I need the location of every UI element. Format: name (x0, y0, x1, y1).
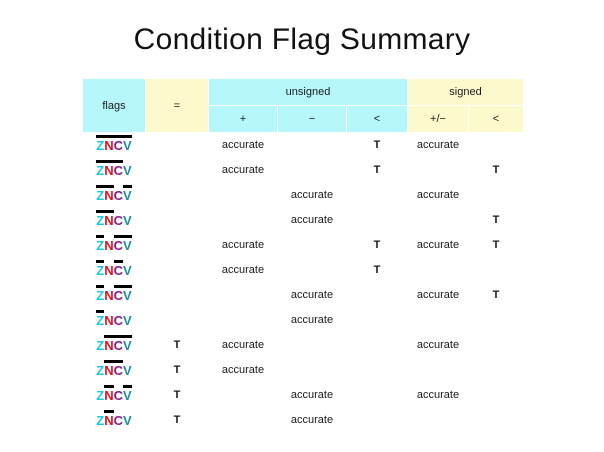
condition-flag-summary-table: flags = unsigned signed + − < +/− < ZNCV… (82, 78, 524, 433)
zncv-flag-glyph: ZNCV (96, 314, 131, 328)
cell-unsigned-plus (209, 283, 277, 307)
cell-signed-plusminus: accurate (408, 233, 468, 257)
flag-letter-z: Z (96, 239, 104, 253)
cell-unsigned-plus: accurate (209, 258, 277, 282)
flag-overline-bar (123, 335, 132, 338)
table-row: ZNCVaccurateaccurateT (83, 283, 523, 307)
cell-signed-plusminus (408, 308, 468, 332)
cell-unsigned-plus (209, 208, 277, 232)
cell-unsigned-minus: accurate (278, 408, 346, 432)
flag-letter-z: Z (96, 414, 104, 428)
flag-overline-bar (96, 185, 104, 188)
cell-equals (146, 308, 208, 332)
flag-overline-bar (96, 160, 104, 163)
cell-signed-plusminus (408, 408, 468, 432)
flag-letter-v: V (123, 189, 132, 203)
flag-combination-cell: ZNCV (83, 383, 145, 407)
cell-equals: T (146, 408, 208, 432)
flag-overline-bar (104, 185, 113, 188)
flag-overline-bar (104, 410, 113, 413)
cell-signed-less-than (469, 183, 523, 207)
flag-letter-v: V (123, 289, 132, 303)
flag-combination-cell: ZNCV (83, 358, 145, 382)
cell-unsigned-minus (278, 133, 346, 157)
zncv-flag-glyph: ZNCV (96, 339, 131, 353)
flag-letter-v: V (123, 139, 132, 153)
cell-signed-less-than: T (469, 158, 523, 182)
flag-letter-n: N (104, 214, 113, 228)
flag-summary-table-container: flags = unsigned signed + − < +/− < ZNCV… (0, 78, 604, 433)
flag-overline-bar (104, 135, 113, 138)
flag-letter-n: N (104, 189, 113, 203)
cell-signed-less-than (469, 408, 523, 432)
cell-equals (146, 208, 208, 232)
flag-overline-bar (114, 360, 123, 363)
flag-overline-bar (114, 160, 123, 163)
cell-unsigned-minus (278, 158, 346, 182)
cell-unsigned-less-than: T (347, 158, 407, 182)
cell-signed-less-than: T (469, 208, 523, 232)
flag-overline-bar (104, 335, 113, 338)
flag-letter-z: Z (96, 339, 104, 353)
cell-equals: T (146, 383, 208, 407)
flag-overline-bar (104, 360, 113, 363)
flag-letter-c: C (114, 289, 123, 303)
cell-unsigned-plus (209, 308, 277, 332)
cell-signed-plusminus: accurate (408, 383, 468, 407)
page-title: Condition Flag Summary (0, 0, 604, 60)
header-row-groups: flags = unsigned signed (83, 79, 523, 105)
flag-combination-cell: ZNCV (83, 233, 145, 257)
flag-letter-v: V (123, 389, 132, 403)
table-row: ZNCVaccurateT (83, 258, 523, 282)
table-row: ZNCVaccurateTaccurate (83, 133, 523, 157)
header-unsigned-less-than: < (347, 106, 407, 132)
cell-unsigned-plus (209, 383, 277, 407)
flag-letter-n: N (104, 139, 113, 153)
header-group-unsigned: unsigned (209, 79, 407, 105)
flag-combination-cell: ZNCV (83, 158, 145, 182)
flag-overline-bar (123, 235, 132, 238)
flag-overline-bar (114, 135, 123, 138)
cell-unsigned-less-than (347, 308, 407, 332)
cell-signed-plusminus (408, 208, 468, 232)
cell-unsigned-less-than (347, 183, 407, 207)
cell-unsigned-plus: accurate (209, 158, 277, 182)
cell-unsigned-minus: accurate (278, 308, 346, 332)
flag-overline-bar (114, 335, 123, 338)
cell-unsigned-minus (278, 233, 346, 257)
flag-overline-bar (96, 210, 104, 213)
flag-letter-c: C (114, 314, 123, 328)
flag-overline-bar (123, 385, 132, 388)
flag-combination-cell: ZNCV (83, 183, 145, 207)
flag-letter-n: N (104, 164, 113, 178)
table-row: ZNCVTaccurate (83, 408, 523, 432)
zncv-flag-glyph: ZNCV (96, 239, 131, 253)
cell-unsigned-plus: accurate (209, 358, 277, 382)
table-body: ZNCVaccurateTaccurateZNCVaccurateTTZNCVa… (83, 133, 523, 432)
table-row: ZNCVaccurate (83, 308, 523, 332)
header-group-signed: signed (408, 79, 523, 105)
cell-unsigned-less-than: T (347, 133, 407, 157)
cell-equals (146, 258, 208, 282)
cell-signed-less-than: T (469, 233, 523, 257)
flag-letter-n: N (104, 289, 113, 303)
flag-letter-n: N (104, 339, 113, 353)
cell-unsigned-less-than (347, 358, 407, 382)
flag-overline-bar (123, 185, 132, 188)
flag-letter-n: N (104, 314, 113, 328)
flag-letter-c: C (114, 164, 123, 178)
cell-signed-less-than (469, 358, 523, 382)
cell-unsigned-plus: accurate (209, 133, 277, 157)
cell-equals (146, 183, 208, 207)
cell-equals (146, 158, 208, 182)
flag-overline-bar (96, 310, 104, 313)
flag-overline-bar (114, 285, 123, 288)
zncv-flag-glyph: ZNCV (96, 389, 131, 403)
cell-unsigned-plus (209, 408, 277, 432)
cell-unsigned-less-than (347, 408, 407, 432)
table-row: ZNCVaccurateaccurate (83, 183, 523, 207)
header-equals: = (146, 79, 208, 132)
cell-signed-plusminus (408, 258, 468, 282)
table-row: ZNCVTaccurateaccurate (83, 333, 523, 357)
flag-letter-c: C (114, 139, 123, 153)
flag-overline-bar (104, 210, 113, 213)
cell-signed-less-than: T (469, 283, 523, 307)
flag-letter-c: C (114, 214, 123, 228)
flag-letter-v: V (123, 214, 132, 228)
cell-unsigned-less-than (347, 208, 407, 232)
header-flags: flags (83, 79, 145, 132)
cell-signed-plusminus: accurate (408, 133, 468, 157)
table-row: ZNCVTaccurate (83, 358, 523, 382)
zncv-flag-glyph: ZNCV (96, 364, 131, 378)
cell-unsigned-minus: accurate (278, 208, 346, 232)
flag-letter-n: N (104, 414, 113, 428)
flag-letter-v: V (123, 314, 132, 328)
flag-overline-bar (123, 135, 132, 138)
flag-letter-z: Z (96, 189, 104, 203)
flag-letter-c: C (114, 364, 123, 378)
flag-letter-z: Z (96, 289, 104, 303)
cell-equals: T (146, 358, 208, 382)
cell-signed-less-than (469, 383, 523, 407)
cell-equals (146, 283, 208, 307)
flag-letter-v: V (123, 264, 132, 278)
table-row: ZNCVaccurateTT (83, 158, 523, 182)
cell-unsigned-minus (278, 333, 346, 357)
flag-letter-z: Z (96, 314, 104, 328)
flag-letter-v: V (123, 414, 132, 428)
flag-overline-bar (123, 285, 132, 288)
cell-unsigned-plus (209, 183, 277, 207)
flag-combination-cell: ZNCV (83, 258, 145, 282)
flag-letter-n: N (104, 264, 113, 278)
flag-combination-cell: ZNCV (83, 408, 145, 432)
cell-signed-plusminus (408, 358, 468, 382)
cell-unsigned-less-than (347, 333, 407, 357)
flag-overline-bar (104, 160, 113, 163)
flag-letter-n: N (104, 239, 113, 253)
flag-letter-n: N (104, 389, 113, 403)
flag-letter-z: Z (96, 164, 104, 178)
cell-unsigned-minus: accurate (278, 183, 346, 207)
flag-letter-c: C (114, 239, 123, 253)
zncv-flag-glyph: ZNCV (96, 289, 131, 303)
cell-signed-plusminus: accurate (408, 333, 468, 357)
header-signed-plusminus: +/− (408, 106, 468, 132)
zncv-flag-glyph: ZNCV (96, 164, 131, 178)
cell-unsigned-less-than: T (347, 233, 407, 257)
flag-overline-bar (114, 235, 123, 238)
flag-letter-v: V (123, 339, 132, 353)
flag-overline-bar (114, 260, 123, 263)
table-row: ZNCVTaccurateaccurate (83, 383, 523, 407)
flag-letter-z: Z (96, 264, 104, 278)
cell-signed-less-than (469, 308, 523, 332)
flag-overline-bar (96, 285, 104, 288)
flag-letter-v: V (123, 364, 132, 378)
flag-letter-v: V (123, 239, 132, 253)
zncv-flag-glyph: ZNCV (96, 414, 131, 428)
flag-combination-cell: ZNCV (83, 208, 145, 232)
flag-combination-cell: ZNCV (83, 308, 145, 332)
flag-letter-z: Z (96, 389, 104, 403)
cell-signed-plusminus: accurate (408, 283, 468, 307)
cell-signed-plusminus: accurate (408, 183, 468, 207)
header-unsigned-minus: − (278, 106, 346, 132)
cell-unsigned-plus: accurate (209, 233, 277, 257)
flag-letter-v: V (123, 164, 132, 178)
flag-letter-z: Z (96, 139, 104, 153)
cell-signed-less-than (469, 258, 523, 282)
table-header: flags = unsigned signed + − < +/− < (83, 79, 523, 132)
zncv-flag-glyph: ZNCV (96, 189, 131, 203)
cell-unsigned-minus: accurate (278, 383, 346, 407)
cell-unsigned-plus: accurate (209, 333, 277, 357)
zncv-flag-glyph: ZNCV (96, 264, 131, 278)
cell-equals (146, 233, 208, 257)
flag-letter-n: N (104, 364, 113, 378)
cell-equals: T (146, 333, 208, 357)
table-row: ZNCVaccurateTaccurateT (83, 233, 523, 257)
cell-unsigned-minus (278, 258, 346, 282)
zncv-flag-glyph: ZNCV (96, 214, 131, 228)
cell-signed-less-than (469, 133, 523, 157)
flag-letter-c: C (114, 414, 123, 428)
cell-unsigned-less-than (347, 383, 407, 407)
flag-letter-c: C (114, 389, 123, 403)
flag-letter-c: C (114, 339, 123, 353)
cell-equals (146, 133, 208, 157)
flag-combination-cell: ZNCV (83, 283, 145, 307)
header-unsigned-plus: + (209, 106, 277, 132)
zncv-flag-glyph: ZNCV (96, 139, 131, 153)
cell-unsigned-minus: accurate (278, 283, 346, 307)
cell-unsigned-less-than: T (347, 258, 407, 282)
cell-unsigned-less-than (347, 283, 407, 307)
flag-letter-c: C (114, 264, 123, 278)
flag-letter-z: Z (96, 364, 104, 378)
flag-overline-bar (96, 235, 104, 238)
flag-letter-c: C (114, 189, 123, 203)
flag-combination-cell: ZNCV (83, 333, 145, 357)
header-signed-less-than: < (469, 106, 523, 132)
cell-unsigned-minus (278, 358, 346, 382)
flag-overline-bar (96, 135, 104, 138)
table-row: ZNCVaccurateT (83, 208, 523, 232)
flag-combination-cell: ZNCV (83, 133, 145, 157)
flag-overline-bar (96, 260, 104, 263)
flag-overline-bar (104, 385, 113, 388)
cell-signed-plusminus (408, 158, 468, 182)
cell-signed-less-than (469, 333, 523, 357)
flag-letter-z: Z (96, 214, 104, 228)
